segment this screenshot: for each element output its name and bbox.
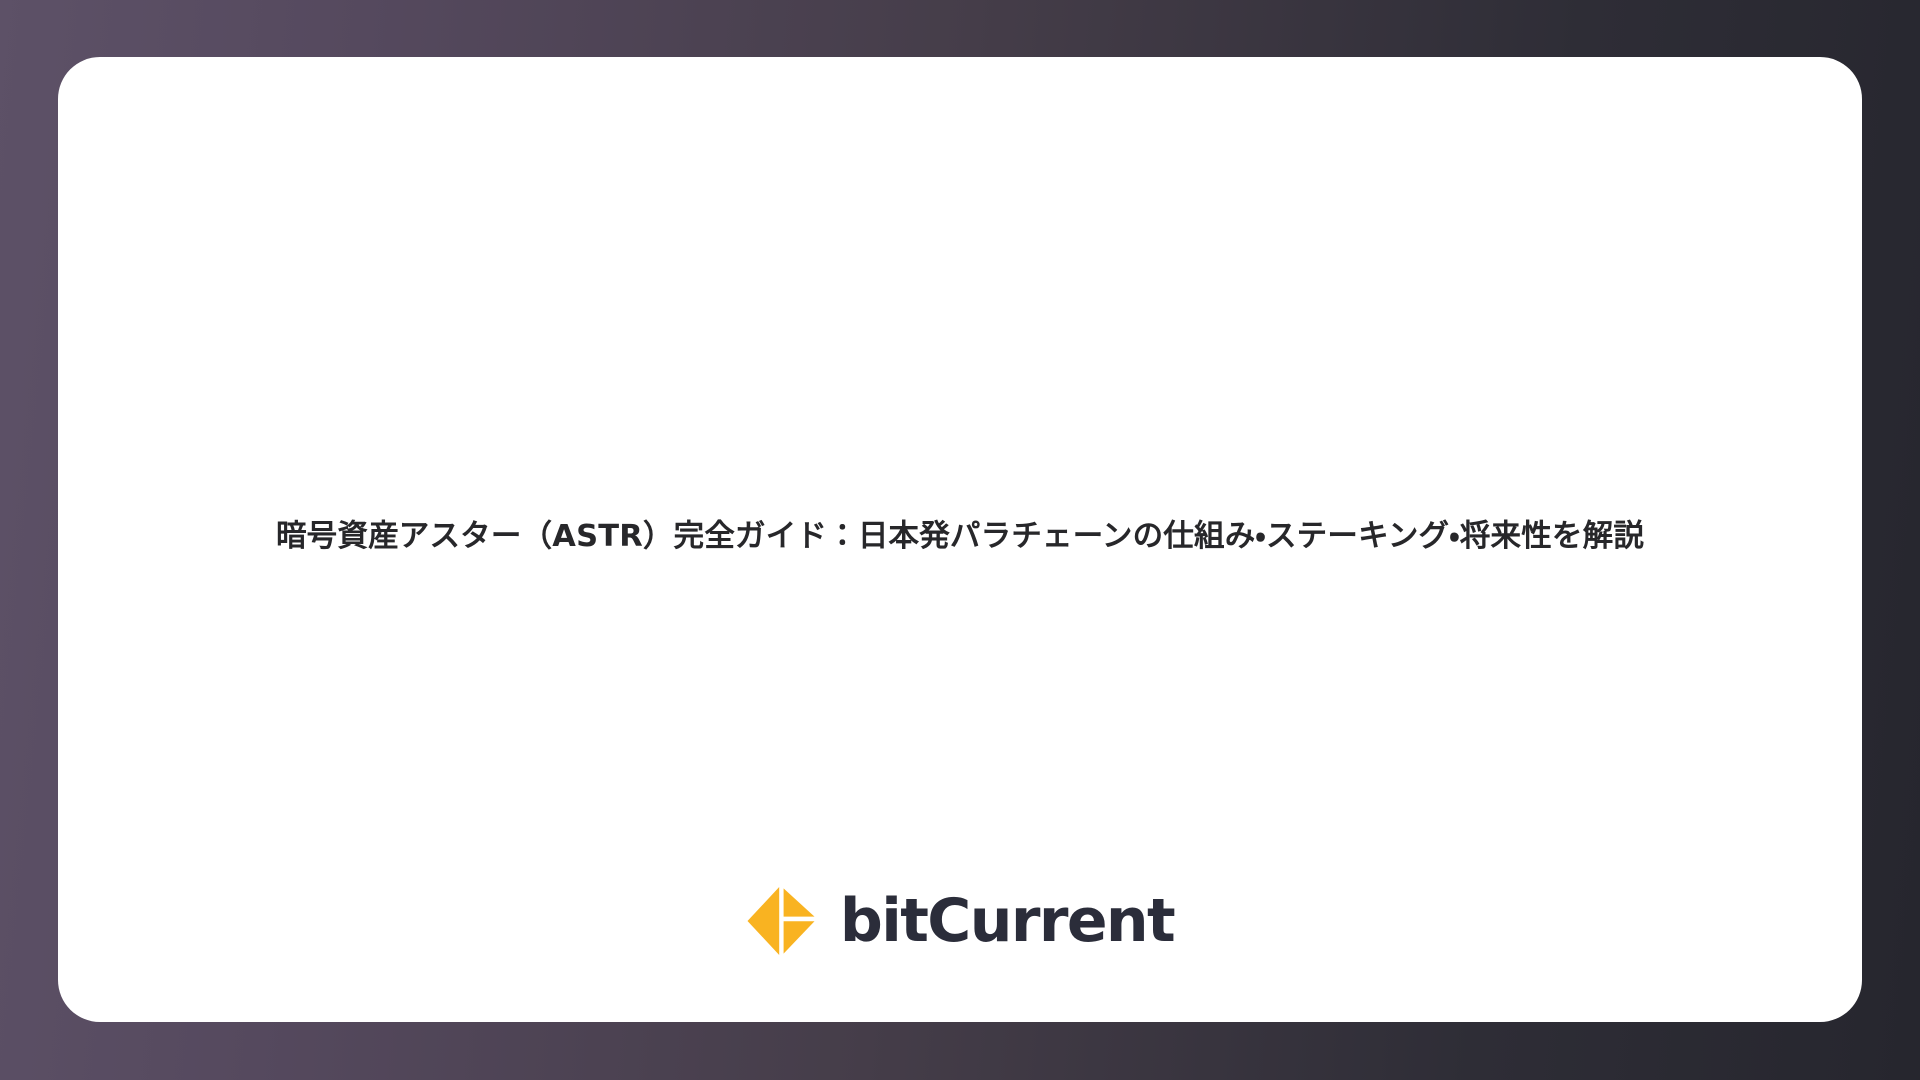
page-title: 暗号資産アスター（ASTR）完全ガイド：日本発パラチェーンの仕組み・ステーキング… — [276, 514, 1644, 560]
bitcurrent-diamond-icon — [746, 885, 818, 957]
brand-lockup: bitCurrent — [58, 856, 1862, 986]
brand-wordmark: bitCurrent — [840, 891, 1174, 951]
title-container: 暗号資産アスター（ASTR）完全ガイド：日本発パラチェーンの仕組み・ステーキング… — [58, 477, 1862, 597]
og-card-canvas: 暗号資産アスター（ASTR）完全ガイド：日本発パラチェーンの仕組み・ステーキング… — [0, 0, 1920, 1080]
article-card: 暗号資産アスター（ASTR）完全ガイド：日本発パラチェーンの仕組み・ステーキング… — [58, 57, 1862, 1022]
